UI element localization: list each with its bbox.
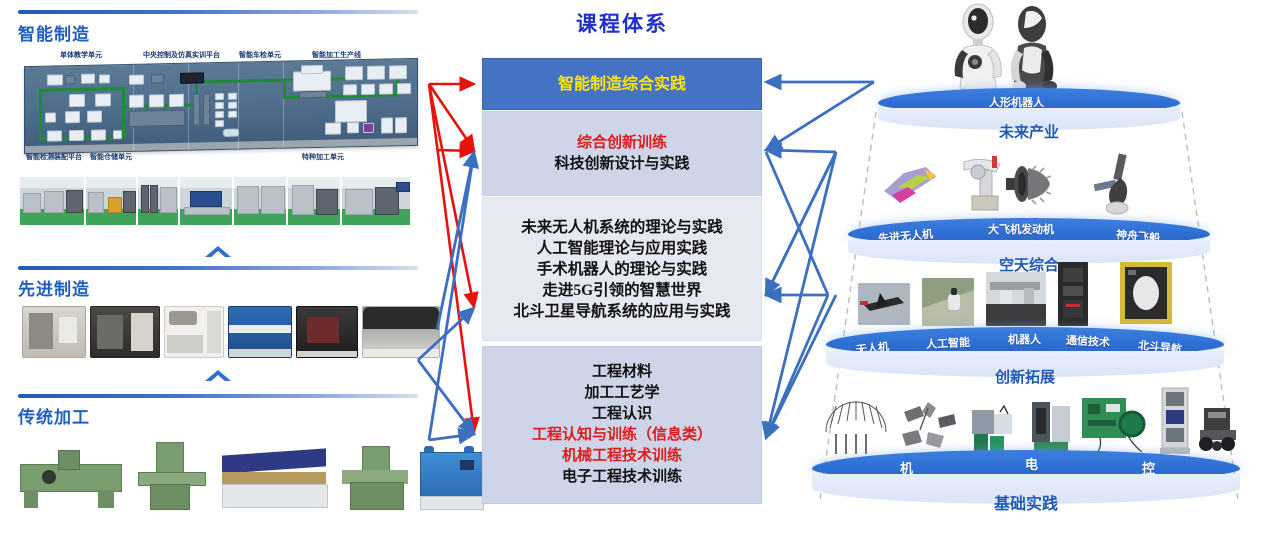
photo-machine <box>66 190 83 213</box>
floorplan-machine <box>381 117 393 133</box>
floorplan-machine <box>95 93 111 106</box>
tier-thumb-spacecraft <box>1090 150 1146 216</box>
course-box-innovation-training[interactable]: 综合创新训练 科技创新设计与实践 <box>482 111 762 196</box>
machine-photo <box>90 306 160 358</box>
photo <box>342 177 410 225</box>
tier-item: 机器人 <box>1008 331 1041 347</box>
industrial-robot-icon <box>986 272 1046 326</box>
drone-icon <box>858 283 910 325</box>
communication-rack-icon <box>1058 262 1088 326</box>
section-rule <box>18 10 418 14</box>
course-line: 智能制造综合实践 <box>558 74 686 95</box>
tier-thumb-beidou <box>1120 262 1172 324</box>
floorplan-label: 智能检测装配平台 <box>26 152 82 162</box>
machine-photo <box>22 306 86 358</box>
traditional-machine-row <box>20 438 482 508</box>
floorplan-machine <box>228 93 237 100</box>
mobile-robot-icon <box>1194 400 1246 456</box>
photo <box>180 177 232 225</box>
mechanical-parts-icon <box>820 398 892 456</box>
course-box-theory-practice[interactable]: 未来无人机系统的理论与实践 人工智能理论与应用实践 手术机器人的理论与实践 走进… <box>482 197 762 341</box>
photo-machine <box>261 186 285 214</box>
pcb-icon-a <box>970 404 1022 456</box>
floorplan-machine <box>87 110 102 122</box>
machine-photo <box>164 306 224 358</box>
photo <box>288 177 340 225</box>
tier-thumb-pcb-b <box>1028 398 1074 456</box>
floorplan-label: 中央控制及仿真实训平台 <box>143 50 220 60</box>
floorplan-machine <box>379 83 393 94</box>
pcb-icon-b <box>1028 398 1074 456</box>
page-title: 课程体系 <box>482 8 762 38</box>
photo-ceiling <box>180 177 232 188</box>
floorplan-machine <box>149 94 164 107</box>
floorplan-machine <box>129 95 144 108</box>
floorplan-machine <box>335 100 367 123</box>
floorplan-machine <box>193 93 200 125</box>
slide-canvas: 智能制造 单体教学单元 中央控制及仿真实训平台 智能车检单元 智能加工生产线 <box>0 0 1268 548</box>
advanced-uav-icon <box>878 157 942 211</box>
photo-machine <box>160 187 177 213</box>
floorplan-machine <box>361 84 375 95</box>
floorplan-machine <box>223 129 239 137</box>
photo <box>138 177 178 225</box>
machine-photo <box>220 446 330 508</box>
floorplan-machine <box>228 111 237 118</box>
red-arrow-2 <box>429 84 474 150</box>
blue-arrow-l5 <box>429 152 474 440</box>
course-line: 科技创新设计与实践 <box>554 154 689 175</box>
course-line: 工程认知与训练（信息类） <box>532 425 712 446</box>
floorplan-machine <box>347 122 359 133</box>
floorplan-conveyor <box>122 87 125 139</box>
machine-photo <box>130 442 210 508</box>
photo-machine <box>44 191 64 213</box>
floorplan-machine <box>65 111 80 123</box>
tier-item: 大飞机发动机 <box>988 221 1054 237</box>
red-arrow-3 <box>429 84 474 307</box>
ai-robot-icon <box>922 278 974 326</box>
tier-thumb-sheet-parts <box>898 400 960 456</box>
red-arrow-5 <box>437 150 474 151</box>
floorplan-machine <box>363 123 374 133</box>
section-rule <box>18 394 418 398</box>
machine-photo <box>420 446 482 508</box>
photo-machine <box>184 207 230 215</box>
tier-name: 未来产业 <box>878 121 1180 142</box>
sheet-metal-parts-icon <box>898 400 960 456</box>
floorplan-machine <box>113 130 122 139</box>
section-title: 先进制造 <box>18 275 90 300</box>
tier-thumb-mech-parts <box>820 398 892 456</box>
curriculum-system-column: 课程体系 智能制造综合实践 综合创新训练 科技创新设计与实践 未来无人机系统的理… <box>482 0 762 548</box>
photo <box>20 177 84 225</box>
photo-machine <box>316 189 338 215</box>
floorplan-machine <box>99 74 110 83</box>
floorplan-machine <box>325 122 341 134</box>
floorplan-machine <box>215 102 224 109</box>
photo-machine <box>190 191 222 207</box>
floorplan-machine <box>343 84 357 95</box>
tier-thumb-drone <box>858 283 910 325</box>
course-line: 电子工程技术训练 <box>562 467 682 488</box>
course-line: 综合创新训练 <box>577 133 667 154</box>
course-line: 手术机器人的理论与实践 <box>537 259 708 280</box>
floorplan-machine <box>129 110 185 127</box>
floorplan-label: 单体教学单元 <box>60 50 102 60</box>
photo-machine <box>108 197 122 213</box>
floorplan-divider <box>283 62 284 148</box>
floorplan-machine <box>69 94 85 107</box>
floorplan-machine <box>69 130 84 141</box>
left-capability-column: 智能制造 单体教学单元 中央控制及仿真实训平台 智能车检单元 智能加工生产线 <box>0 0 430 548</box>
floorplan-machine <box>228 102 237 109</box>
photo-machine <box>141 185 149 213</box>
floorplan-machine <box>45 112 56 122</box>
floorplan-machine <box>215 93 224 100</box>
floorplan-machine <box>215 120 224 127</box>
course-line: 未来无人机系统的理论与实践 <box>521 217 723 238</box>
machine-photo <box>362 306 440 358</box>
section-traditional-machining: 传统加工 <box>0 390 430 548</box>
tier-thumb-ai <box>922 278 974 326</box>
photo-machine <box>396 182 410 192</box>
floorplan-machine <box>91 129 106 140</box>
course-line: 机械工程技术训练 <box>562 446 682 467</box>
floorplan-machine <box>395 117 407 133</box>
tier-item: 电 <box>1025 454 1038 473</box>
floorplan-machine <box>169 94 184 107</box>
floorplan-label: 智能车检单元 <box>239 50 281 60</box>
photo-machine <box>237 186 259 214</box>
floorplan-machine <box>389 65 407 79</box>
section-title: 传统加工 <box>18 403 90 428</box>
section-smart-manufacturing: 智能制造 单体教学单元 中央控制及仿真实训平台 智能车检单元 智能加工生产线 <box>0 0 430 268</box>
floorplan-machine <box>397 83 411 94</box>
red-arrow-group <box>429 84 474 432</box>
floorplan-machine <box>65 75 75 84</box>
course-line: 工程材料 <box>592 362 652 383</box>
photo-machine <box>23 193 41 213</box>
tier-thumb-pcb-c <box>1080 394 1150 456</box>
machine-photo <box>228 306 292 358</box>
photo-ceiling <box>86 177 136 188</box>
smart-manufacturing-photo-strip <box>20 177 410 225</box>
tier-thumb-engine-b <box>1002 158 1058 214</box>
floorplan-machine <box>129 75 144 85</box>
tier-thumb-robot <box>986 272 1046 326</box>
photo <box>86 177 136 225</box>
course-line: 人工智能理论与应用实践 <box>537 238 708 259</box>
tier-item: 通信技术 <box>1066 332 1111 350</box>
advanced-machine-row <box>22 306 440 358</box>
photo-machine <box>150 185 158 213</box>
floorplan-machine <box>345 66 363 80</box>
photo-machine <box>345 189 373 215</box>
pcb-assembly-icon <box>1080 394 1150 456</box>
floorplan-machine <box>367 66 385 80</box>
photo-machine <box>88 192 104 213</box>
section-rule <box>18 266 418 270</box>
photo-machine <box>123 191 136 213</box>
course-line: 北斗卫星导航系统的应用与实践 <box>513 301 730 322</box>
tier-thumb-control-cabinet <box>1158 386 1192 456</box>
floorplan-machine <box>47 74 63 85</box>
machine-photo <box>296 306 358 358</box>
blue-arrow-l1 <box>437 152 474 330</box>
floorplan-machine <box>299 91 327 99</box>
control-cabinet-icon <box>1158 386 1192 456</box>
course-box-foundation[interactable]: 工程材料 加工工艺学 工程认识 工程认知与训练（信息类） 机械工程技术训练 电子… <box>482 346 762 504</box>
red-arrow-4 <box>429 84 474 432</box>
tier-thumb-uav <box>878 157 942 211</box>
tier-thumb-pcb-a <box>970 404 1022 456</box>
floorplan-machine <box>47 130 62 141</box>
floorplan-machine <box>301 65 323 74</box>
chevron-up-icon <box>205 246 231 257</box>
course-box-smart-manufacturing-practice[interactable]: 智能制造综合实践 <box>482 58 762 110</box>
section-title: 智能制造 <box>18 20 90 45</box>
floorplan-conveyor <box>39 89 42 141</box>
floorplan-machine <box>81 74 95 84</box>
capability-pyramid: 人形机器人 未来产业 <box>790 0 1268 548</box>
tier-thumb-rover <box>1194 400 1246 456</box>
course-line: 走进5G引领的智慧世界 <box>542 280 701 301</box>
floorplan-label: 智能仓储单元 <box>90 152 132 162</box>
course-line: 加工工艺学 <box>584 383 659 404</box>
floorplan-label: 特种加工单元 <box>302 152 344 162</box>
photo-ceiling <box>20 177 84 188</box>
tier-name: 创新拓展 <box>826 366 1224 387</box>
beidou-module-icon <box>1120 262 1172 324</box>
course-line: 工程认识 <box>592 404 652 425</box>
shenzhou-spacecraft-icon <box>1090 150 1146 216</box>
section-advanced-manufacturing: 先进制造 <box>0 262 430 390</box>
photo <box>234 177 286 225</box>
tier-item: 人工智能 <box>926 334 971 352</box>
aircraft-engine-icon-b <box>1002 158 1058 214</box>
photo-machine <box>292 185 314 215</box>
tier-name: 基础实践 <box>812 490 1240 514</box>
floorplan-machine <box>203 93 210 125</box>
machine-photo <box>20 446 120 508</box>
smart-factory-floorplan <box>24 58 418 154</box>
tier-thumb-comm <box>1058 262 1088 326</box>
floorplan-machine <box>151 74 164 83</box>
machine-photo <box>340 446 410 508</box>
floorplan-machine <box>180 72 204 84</box>
chevron-up-icon <box>205 370 231 381</box>
floorplan-conveyor <box>39 87 125 92</box>
floorplan-machine <box>215 111 224 118</box>
